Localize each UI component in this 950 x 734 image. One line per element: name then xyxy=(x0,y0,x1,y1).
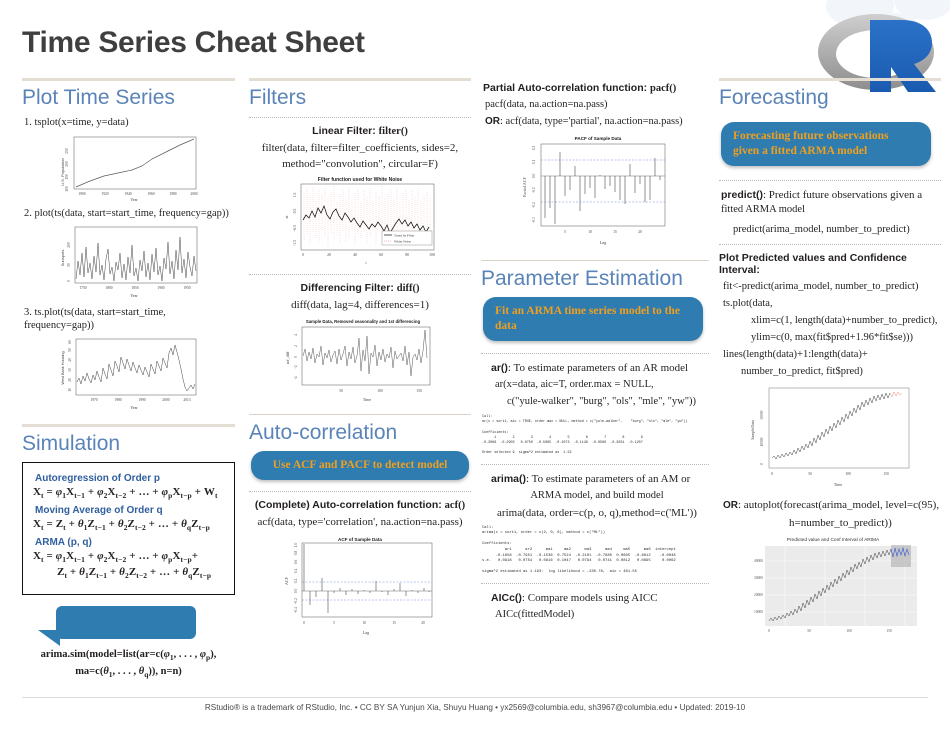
divider xyxy=(481,464,709,465)
svg-text:0.8: 0.8 xyxy=(294,551,298,556)
chart-title: Predicted value and Conf Interval of ARI… xyxy=(787,537,880,543)
ar-fn-name: ar() xyxy=(491,362,508,374)
svg-text:1960: 1960 xyxy=(147,192,154,196)
pacf-or-code: : acf(data, type='partial', na.action=na… xyxy=(500,116,683,127)
svg-text:5: 5 xyxy=(564,230,566,234)
svg-text:1970: 1970 xyxy=(90,398,97,402)
speech-bubble xyxy=(56,606,235,639)
subhead-acf-fn: acf() xyxy=(445,500,465,511)
divider xyxy=(22,424,235,427)
chart-legend: Trend by Filter White Noise xyxy=(382,231,432,245)
chart-predicted-base: SampleData 0 10000 30000 050100150 Time xyxy=(740,382,920,490)
svg-text:40000: 40000 xyxy=(754,559,763,563)
pill-acf-pacf: Use ACF and PACF to detect model xyxy=(251,451,469,480)
svg-text:1.5: 1.5 xyxy=(293,193,297,198)
svg-text:150: 150 xyxy=(416,389,422,393)
forecast-code-1: ts.plot(data, xyxy=(723,297,941,311)
svg-text:0: 0 xyxy=(768,629,770,633)
svg-text:50: 50 xyxy=(807,629,811,633)
arima-fn-name: arima() xyxy=(491,473,526,485)
svg-text:Year: Year xyxy=(130,405,138,410)
predict-code-line1: predict(arima_model, number_to_predict) xyxy=(733,223,941,237)
pill-forecasting: Forecasting future observations given a … xyxy=(721,122,931,166)
svg-text:0: 0 xyxy=(294,356,298,358)
diff-code-line1: diff(data, lag=4, differences=1) xyxy=(253,298,467,312)
svg-text:30000: 30000 xyxy=(760,410,764,419)
forecast-code-0: fit<-predict(arima_model, number_to_pred… xyxy=(723,280,941,294)
arima-console-output: Call: arima(x = sort1, order = c(2, 0, 6… xyxy=(482,526,709,576)
svg-text:150: 150 xyxy=(65,174,69,180)
chart-filter-white-noise: Filter function used for White Noise xt … xyxy=(278,175,443,267)
arima-sim-line1: arima.sim(model=list(ar=c(φ1, . . . , φp… xyxy=(41,649,217,660)
svg-text:Time: Time xyxy=(834,482,843,487)
svg-text:0: 0 xyxy=(67,280,71,282)
svg-text:10: 10 xyxy=(68,388,72,392)
svg-text:10000: 10000 xyxy=(754,610,763,614)
divider xyxy=(719,78,941,81)
or-label: OR xyxy=(485,116,500,127)
svg-text:1900: 1900 xyxy=(78,192,85,196)
svg-text:15: 15 xyxy=(613,230,617,234)
arima-description-2: ARMA model, and build model xyxy=(485,489,709,503)
svg-text:1990: 1990 xyxy=(138,398,145,402)
svg-text:Lag: Lag xyxy=(600,240,607,245)
svg-text:2000: 2000 xyxy=(190,192,197,196)
svg-text:t: t xyxy=(365,260,367,265)
forecast-code-5: number_to_predict, fit$pred) xyxy=(741,365,941,379)
svg-text:0.4: 0.4 xyxy=(294,569,298,574)
svg-text:1920: 1920 xyxy=(101,192,108,196)
divider xyxy=(719,244,941,245)
step-2-label: 2. plot(ts(data, start=start_time, frequ… xyxy=(24,207,235,220)
svg-text:1.0: 1.0 xyxy=(294,543,298,548)
chart-title: ACF of Sample Data xyxy=(338,537,382,542)
svg-text:0: 0 xyxy=(771,472,773,476)
acf-code-line1: acf(data, type='correlation', na.action=… xyxy=(253,515,467,529)
arima-description: arima(): To estimate parameters of an AM… xyxy=(491,472,709,486)
svg-text:0.0: 0.0 xyxy=(294,589,298,594)
chart-title: Filter function used for White Noise xyxy=(317,177,402,183)
svg-text:200: 200 xyxy=(65,161,69,167)
predict-description-2: fitted ARMA model xyxy=(721,203,941,217)
svg-text:1900: 1900 xyxy=(157,286,164,290)
divider xyxy=(249,117,471,118)
section-heading-plot-time-series: Plot Time Series xyxy=(22,86,235,110)
svg-text:100: 100 xyxy=(846,629,852,633)
arima-sim-code: arima.sim(model=list(ar=c(φ1, . . . , φp… xyxy=(22,648,235,682)
svg-text:0.0: 0.0 xyxy=(532,174,536,179)
subhead-differencing-text: Differencing Filter: xyxy=(300,282,396,294)
formula-arma-line2: Zt + θ1Zt−1 + θ2Zt−2 + … + θqZt−p xyxy=(57,566,226,580)
predict-fn-name: predict() xyxy=(721,189,763,201)
subhead-linear-filter-fn: filter() xyxy=(379,126,408,137)
aicc-code-line1: AICc(fittedModel) xyxy=(495,608,709,622)
svg-text:-0.4: -0.4 xyxy=(294,607,298,613)
svg-text:100: 100 xyxy=(429,253,435,257)
svg-text:0: 0 xyxy=(303,621,305,625)
arima-fn-desc: : To estimate parameters of an AM or xyxy=(526,473,690,485)
svg-text:30: 30 xyxy=(68,368,72,372)
svg-text:20: 20 xyxy=(68,378,72,382)
pacf-code-line1: pacf(data, na.action=na.pass) xyxy=(485,98,709,112)
svg-text:150: 150 xyxy=(886,629,892,633)
arima-sim-line2: ma=c(θ1, . . . , θq)), n=n) xyxy=(75,666,182,677)
subhead-linear-filter: Linear Filter: filter() xyxy=(249,125,471,137)
subhead-differencing-fn: diff() xyxy=(397,283,420,294)
speech-bubble-tail xyxy=(38,630,60,646)
svg-text:-4: -4 xyxy=(294,376,298,379)
subhead-pacf: Partial Auto-correlation function: pacf(… xyxy=(483,82,709,94)
svg-text:SampleData: SampleData xyxy=(750,420,755,440)
svg-text:Year: Year xyxy=(130,293,138,298)
forecast-code-4: lines(length(data)+1:length(data)+ xyxy=(723,348,941,362)
divider xyxy=(249,78,471,81)
chart-acf: ACF of Sample Data ACF -0.4 -0.2 0.0 0.2… xyxy=(276,533,444,638)
speech-bubble-body xyxy=(56,606,196,639)
svg-text:80: 80 xyxy=(405,253,409,257)
svg-text:0: 0 xyxy=(302,253,304,257)
pacf-code-line2: OR: acf(data, type='partial', na.action=… xyxy=(485,115,709,129)
predict-fn-desc: : Predict future observations given a xyxy=(763,189,922,201)
predict-description: predict(): Predict future observations g… xyxy=(721,188,941,202)
autoplot-code-line1: OR: autoplot(forecast(arima_model, level… xyxy=(723,498,941,513)
svg-text:10: 10 xyxy=(588,230,592,234)
ar-console-output: Call: ar(x = sort1, aic = TRUE, order.ma… xyxy=(482,415,709,457)
svg-text:Time: Time xyxy=(363,397,372,402)
svg-text:100: 100 xyxy=(377,389,383,393)
svg-text:-0.2: -0.2 xyxy=(294,598,298,604)
divider xyxy=(22,78,235,81)
svg-text:0: 0 xyxy=(760,463,764,465)
svg-text:-0.3: -0.3 xyxy=(532,217,536,223)
svg-text:4: 4 xyxy=(294,334,298,336)
svg-text:50: 50 xyxy=(808,472,812,476)
simulation-formula-box: Autoregression of Order p Xt = φ1Xt−1 + … xyxy=(22,462,235,595)
aicc-description: AICc(): Compare models using AICC xyxy=(491,591,709,605)
svg-text:1750: 1750 xyxy=(79,286,86,290)
formula-label-arma: ARMA (p, q) xyxy=(35,537,226,548)
svg-text:15: 15 xyxy=(392,621,396,625)
divider xyxy=(719,180,941,181)
forecast-code-2: xlim=c(1, length(data)+number_to_predict… xyxy=(751,314,941,328)
svg-text:-0.2: -0.2 xyxy=(532,202,536,208)
svg-text:Lag: Lag xyxy=(363,630,370,635)
svg-text:40: 40 xyxy=(353,253,357,257)
svg-text:50: 50 xyxy=(339,389,343,393)
svg-text:10: 10 xyxy=(362,621,366,625)
ar-code-line1: ar(x=data, aic=T, order.max = NULL, xyxy=(495,378,709,392)
svg-text:Trend by Filter: Trend by Filter xyxy=(394,234,415,238)
subhead-acf: (Complete) Auto-correlation function: ac… xyxy=(249,499,471,511)
divider xyxy=(481,353,709,354)
svg-text:5: 5 xyxy=(333,621,335,625)
divider xyxy=(481,583,709,584)
column-parameter-estimation: Partial Auto-correlation function: pacf(… xyxy=(481,78,709,625)
aicc-fn-desc: : Compare models using AICC xyxy=(522,592,658,604)
svg-text:2013: 2013 xyxy=(183,398,190,402)
column-forecasting: Forecasting Forecasting future observati… xyxy=(719,78,941,647)
divider xyxy=(481,260,709,261)
svg-text:0.2: 0.2 xyxy=(294,579,298,584)
pill-fit-arma: Fit an ARMA time series model to the dat… xyxy=(483,297,703,341)
svg-text:150: 150 xyxy=(883,472,889,476)
step-1-label: 1. tsplot(x=time, y=data) xyxy=(24,116,235,129)
chart-differencing: Sample Data, Removed seasonality and 1st… xyxy=(275,316,445,404)
svg-text:-1.5: -1.5 xyxy=(293,240,297,246)
svg-text:Year: Year xyxy=(130,197,138,202)
column-plot-time-series: Plot Time Series 1. tsplot(x=time, y=dat… xyxy=(22,78,235,682)
subhead-pacf-fn: pacf() xyxy=(650,83,676,94)
cheatsheet-page: Time Series Cheat Sheet Plot Time Series… xyxy=(0,0,950,734)
chart-west-bank-housing: West Bank Housing 10 20 30 40 50 60 1970… xyxy=(54,335,204,413)
svg-text:West Bank Housing: West Bank Housing xyxy=(61,351,65,384)
svg-text:1850: 1850 xyxy=(131,286,138,290)
section-heading-forecasting: Forecasting xyxy=(719,86,941,110)
svg-text:0.5: 0.5 xyxy=(293,209,297,214)
svg-text:20: 20 xyxy=(421,621,425,625)
svg-text:White Noise: White Noise xyxy=(394,240,412,244)
formula-label-ma: Moving Average of Order q xyxy=(35,505,226,516)
formula-ar: Xt = φ1Xt−1 + φ2Xt−2 + … + φpXt−p + Wt xyxy=(33,486,226,500)
autoplot-code-text: : autoplot(forecast(arima_model, level=c… xyxy=(738,499,939,511)
svg-text:-2: -2 xyxy=(294,365,298,368)
step-3-label: 3. ts.plot(ts(data, start=start_time, fr… xyxy=(24,306,235,332)
arima-code-line1: arima(data, order=c(p, o, q),method=c('M… xyxy=(485,506,709,520)
section-heading-parameter-estimation: Parameter Estimation xyxy=(481,267,709,291)
pill-forecasting-line2: given a fitted ARMA model xyxy=(733,144,919,159)
chart-title: PACF of Sample Data xyxy=(575,136,622,141)
formula-ma: Xt = Zt + θ1Zt−1 + θ2Zt−2 + … + θqZt−p xyxy=(33,518,226,532)
svg-text:60: 60 xyxy=(379,253,383,257)
chart-title: Sample Data, Removed seasonality and 1st… xyxy=(306,319,421,324)
svg-text:50: 50 xyxy=(68,348,72,352)
subhead-acf-text: (Complete) Auto-correlation function: xyxy=(255,499,445,511)
svg-text:Sunspots: Sunspots xyxy=(60,250,65,267)
svg-text:40: 40 xyxy=(68,358,72,362)
svg-text:1950: 1950 xyxy=(183,286,190,290)
divider xyxy=(249,491,471,492)
chart-us-population: U.S. Population 100 150 200 250 19001920… xyxy=(54,132,204,202)
or-label: OR xyxy=(723,500,738,511)
chart-sunspots: Sunspots 0 50 200 175018001850 19001950 … xyxy=(54,223,204,301)
svg-text:-0.5: -0.5 xyxy=(293,225,297,231)
footer-divider xyxy=(22,697,928,698)
section-heading-simulation: Simulation xyxy=(22,432,235,456)
pill-forecasting-line1: Forecasting future observations xyxy=(733,129,919,144)
svg-text:0.6: 0.6 xyxy=(294,560,298,565)
svg-text:20000: 20000 xyxy=(754,593,763,597)
forecast-code-3: ylim=c(0, max(fit$pred+1.96*fit$se))) xyxy=(751,331,941,345)
svg-text:xt: xt xyxy=(284,215,289,219)
svg-text:1940: 1940 xyxy=(124,192,131,196)
page-title: Time Series Cheat Sheet xyxy=(22,26,365,60)
svg-text:0.2: 0.2 xyxy=(532,146,536,151)
filter-code-line1: filter(data, filter=filter_coefficients,… xyxy=(253,141,467,155)
filter-code-line2: method="convolution", circular=F) xyxy=(253,157,467,171)
aicc-fn-name: AICc() xyxy=(491,592,522,604)
svg-text:2: 2 xyxy=(294,345,298,347)
formula-arma-line1: Xt = φ1Xt−1 + φ2Xt−2 + … + φpXt−p+ xyxy=(33,550,226,564)
autoplot-code-line2: h=number_to_predict)) xyxy=(789,516,941,530)
svg-text:1800: 1800 xyxy=(105,286,112,290)
svg-text:200: 200 xyxy=(67,242,71,248)
subhead-linear-filter-text: Linear Filter: xyxy=(312,125,379,137)
column-filters: Filters Linear Filter: filter() filter(d… xyxy=(249,78,471,640)
subhead-plot-predicted: Plot Predicted values and Confidence Int… xyxy=(719,252,941,276)
svg-text:2000: 2000 xyxy=(162,398,169,402)
section-heading-filters: Filters xyxy=(249,86,471,110)
svg-text:1980: 1980 xyxy=(169,192,176,196)
footer-text: RStudio® is a trademark of RStudio, Inc.… xyxy=(0,703,950,712)
svg-text:20: 20 xyxy=(638,230,642,234)
svg-text:30000: 30000 xyxy=(754,576,763,580)
divider xyxy=(249,274,471,275)
svg-text:50: 50 xyxy=(67,263,71,267)
svg-text:0.1: 0.1 xyxy=(532,160,536,165)
subhead-pacf-text: Partial Auto-correlation function: xyxy=(483,82,650,94)
svg-text:10000: 10000 xyxy=(760,437,764,446)
svg-text:20: 20 xyxy=(327,253,331,257)
svg-text:-0.1: -0.1 xyxy=(532,187,536,193)
chart-pacf: PACF of Sample Data Partial ACF -0.3 -0.… xyxy=(510,132,680,250)
svg-text:250: 250 xyxy=(65,148,69,154)
formula-label-ar: Autoregression of Order p xyxy=(35,473,226,484)
section-heading-autocorrelation: Auto-correlation xyxy=(249,421,471,445)
chart-predicted-ggplot: Predicted value and Conf Interval of ARI… xyxy=(735,533,925,645)
svg-text:Partial ACF: Partial ACF xyxy=(522,176,527,197)
svg-text:1980: 1980 xyxy=(114,398,121,402)
svg-text:100: 100 xyxy=(65,186,69,192)
svg-text:100: 100 xyxy=(845,472,851,476)
divider xyxy=(249,414,471,415)
svg-text:ACF: ACF xyxy=(284,576,289,585)
svg-text:acf_diff: acf_diff xyxy=(285,351,290,364)
svg-text:60: 60 xyxy=(68,340,72,344)
subhead-differencing-filter: Differencing Filter: diff() xyxy=(249,282,471,294)
ar-fn-desc: : To estimate parameters of an AR model xyxy=(508,362,688,374)
ar-description: ar(): To estimate parameters of an AR mo… xyxy=(491,361,709,375)
ar-code-line2: c("yule-walker", "burg", "ols", "mle", "… xyxy=(507,395,709,409)
